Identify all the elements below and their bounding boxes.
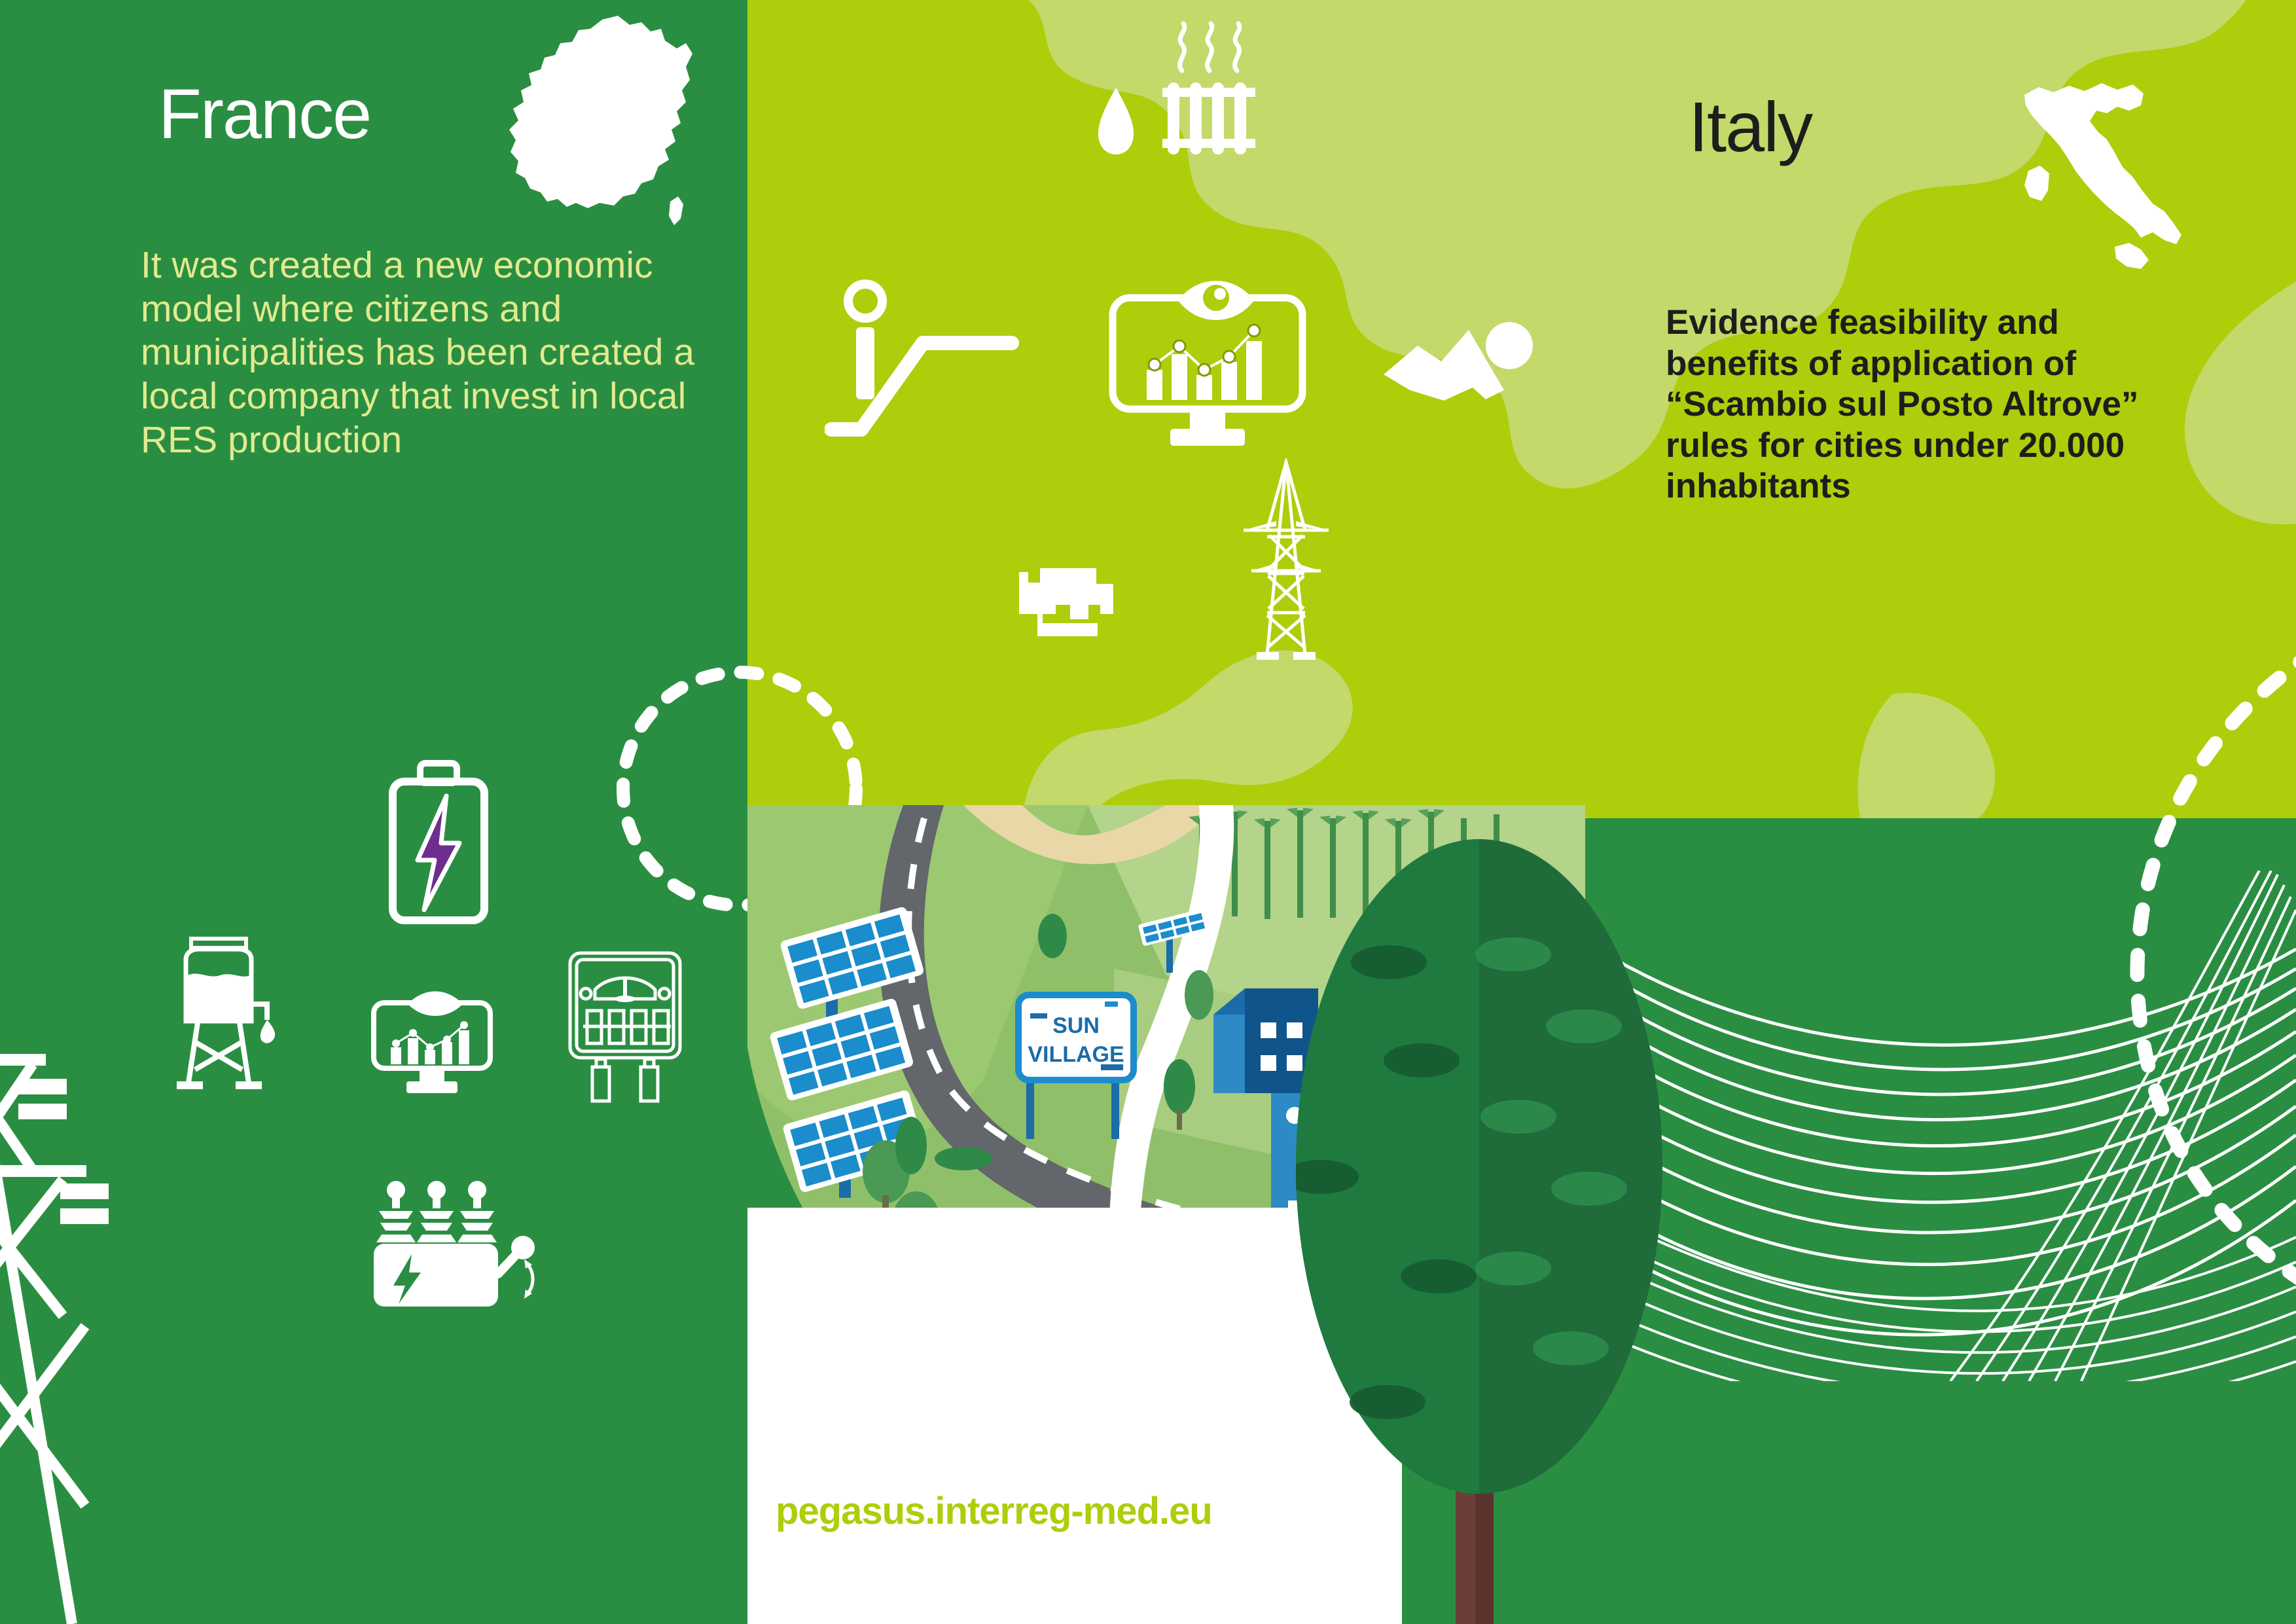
industrial-building-icon [1018, 537, 1136, 655]
battery-bolt-icon [386, 759, 491, 929]
power-pylon-large-icon [0, 1008, 196, 1624]
svg-text:SUN: SUN [1052, 1013, 1100, 1038]
radiator-heating-icon [1158, 20, 1263, 164]
monitor-chart-eye-icon [1106, 265, 1309, 455]
transformer-switch-icon [370, 1178, 540, 1309]
power-pylon-icon [1237, 458, 1335, 668]
page-title-france: France [158, 79, 370, 149]
infographic-canvas: France It was created a new economic mod… [0, 0, 2296, 1624]
person-on-slope-icon [825, 275, 1021, 439]
italy-map-icon [2013, 75, 2202, 285]
water-drop-icon [1093, 85, 1139, 157]
svg-text:VILLAGE: VILLAGE [1028, 1042, 1124, 1067]
big-tree-decor [1296, 831, 1662, 1624]
electric-meter-panel-icon [566, 949, 684, 1106]
france-description: It was created a new economic model wher… [141, 244, 717, 461]
monitor-chart-icon [370, 987, 494, 1098]
mountain-sun-icon [1381, 314, 1545, 419]
france-map-icon [490, 14, 699, 230]
fan-lines-decor [1597, 871, 2296, 1381]
project-url-2[interactable]: pegasus.interreg-med.eu [776, 1489, 1212, 1533]
page-title-italy: Italy [1689, 92, 1812, 162]
italy-description: Evidence feasibility and benefits of app… [1666, 302, 2196, 507]
